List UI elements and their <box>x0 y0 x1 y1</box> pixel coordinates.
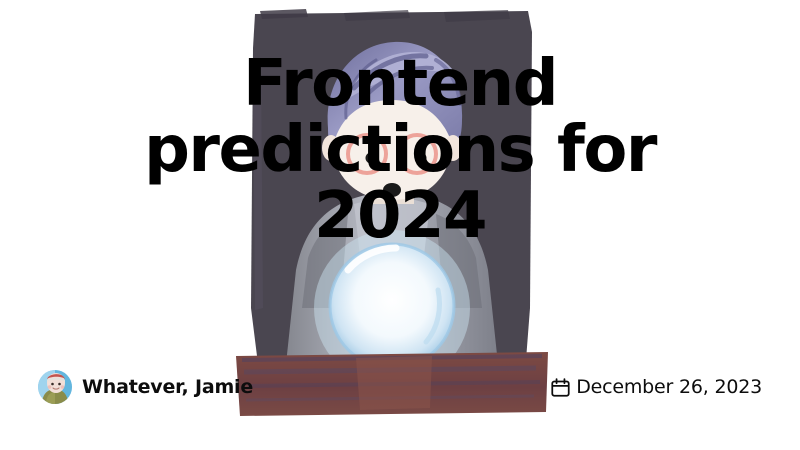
calendar-icon <box>550 377 571 398</box>
avatar <box>38 370 72 404</box>
publish-date: December 26, 2023 <box>550 376 762 398</box>
footer-bar: Whatever, Jamie December 26, 2023 <box>0 370 800 404</box>
slide-root: Frontend predictions for 2024 <box>0 0 800 450</box>
author-name: Whatever, Jamie <box>82 376 253 398</box>
date-text: December 26, 2023 <box>576 376 762 398</box>
author-block[interactable]: Whatever, Jamie <box>38 370 253 404</box>
hero-illustration <box>236 8 548 426</box>
